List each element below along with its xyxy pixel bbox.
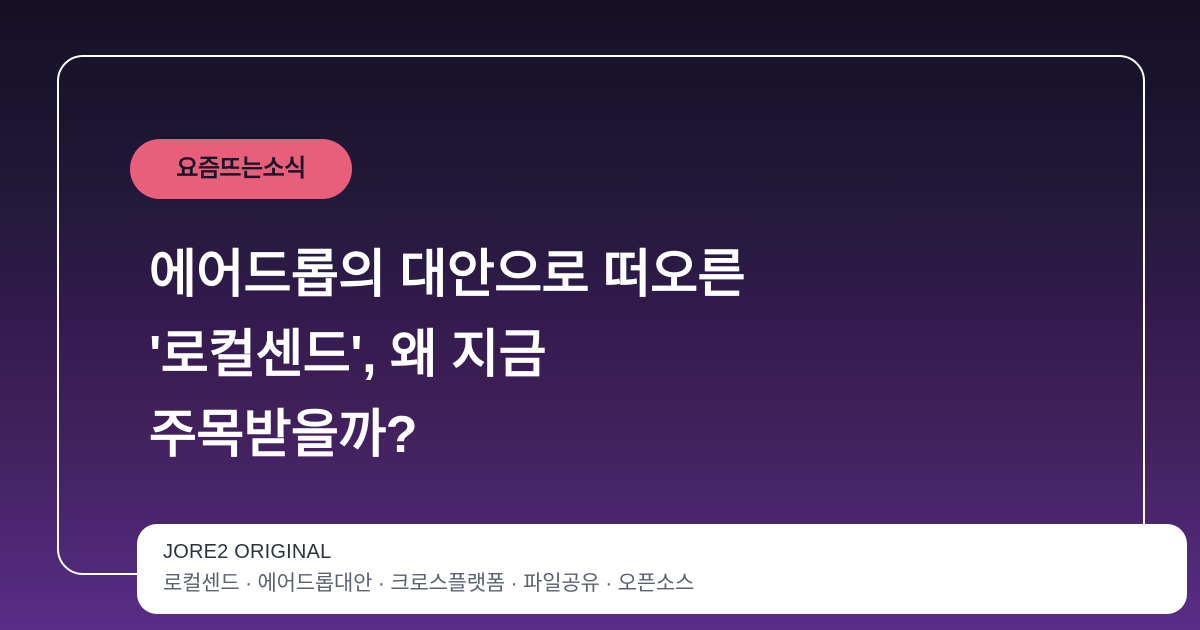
category-badge-label: 요즘뜨는소식	[176, 157, 305, 181]
brand-label: JORE2 ORIGINAL	[163, 538, 1187, 566]
headline-title: 에어드롭의 대안으로 떠오른 '로컬센드', 왜 지금 주목받을까?	[149, 235, 1129, 475]
category-badge[interactable]: 요즘뜨는소식	[130, 139, 352, 199]
footer-card: JORE2 ORIGINAL 로컬센드 · 에어드롭대안 · 크로스플랫폼 · …	[137, 524, 1187, 614]
tag-list: 로컬센드 · 에어드롭대안 · 크로스플랫폼 · 파일공유 · 오픈소스	[163, 568, 1187, 600]
content-frame: 요즘뜨는소식 에어드롭의 대안으로 떠오른 '로컬센드', 왜 지금 주목받을까…	[57, 55, 1145, 575]
